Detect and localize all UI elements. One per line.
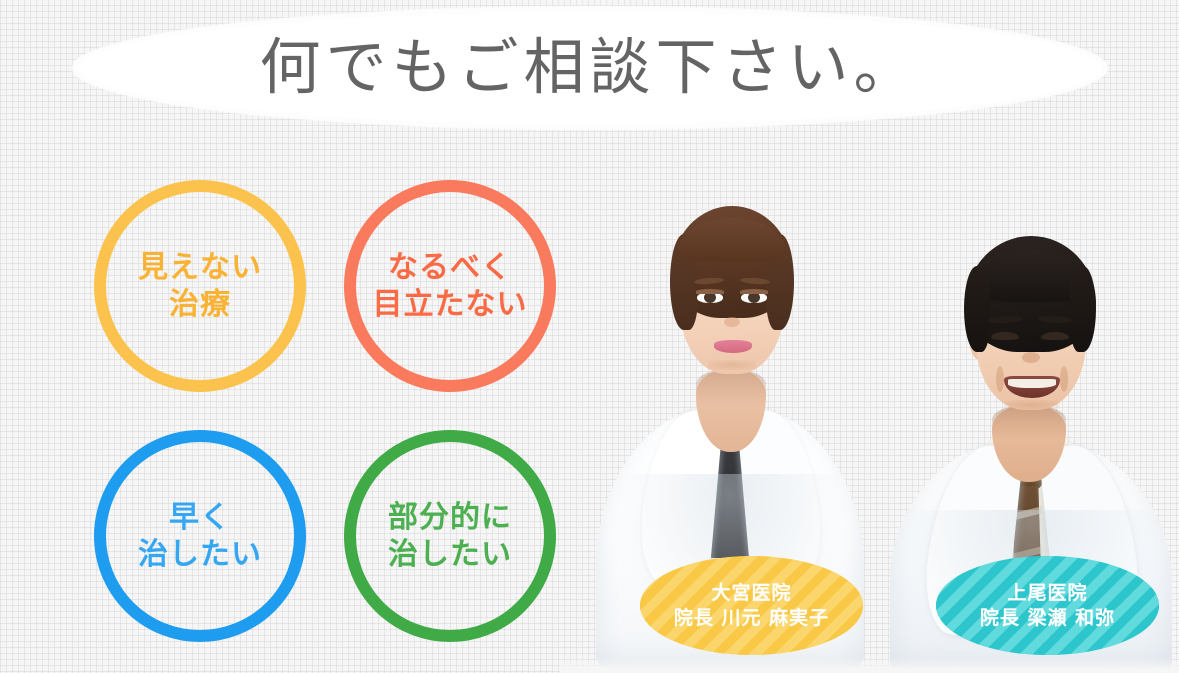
feature-circle-line-1: 部分的に [388,499,512,536]
teeth [1008,379,1056,388]
page-title: 何でもご相談下さい。 [0,34,1179,102]
doctors-photo: 大宮医院 院長 川元 麻実子 上尾医院 院長 梁瀬 和弥 [560,150,1179,673]
photo-bottom-fade [560,657,1179,673]
neck-shadow [696,370,766,406]
hair-side-left [964,266,990,352]
feature-circle-invisible-treatment[interactable]: 見えない 治療 [94,180,306,392]
feature-circle-line-2: 治療 [169,286,231,323]
badge-clinic-name: 大宮医院 [711,581,791,606]
badge-director-name: 院長 梁瀬 和弥 [980,606,1115,631]
eyelid-right [740,289,768,294]
name-badge-omiya[interactable]: 大宮医院 院長 川元 麻実子 [640,556,863,655]
badge-clinic-name: 上尾医院 [1007,581,1087,606]
feature-circle-line-2: 目立たない [373,286,528,323]
feature-circle-line-2: 治したい [138,536,262,573]
chin-shadow [708,360,756,370]
eyelid-left [696,289,724,294]
hair-side-right [1070,266,1096,352]
feature-circle-line-1: なるべく [388,249,512,286]
feature-circle-fast-treatment[interactable]: 早く 治したい [94,430,306,642]
eye-left [991,332,1019,340]
smile-line-left [996,366,1004,392]
feature-circle-partial-treatment[interactable]: 部分的に 治したい [344,430,556,642]
feature-circle-line-1: 早く [169,499,231,536]
feature-circle-line-1: 見えない [138,249,262,286]
eye-right [1041,332,1069,340]
nose [1022,352,1040,363]
badge-director-name: 院長 川元 麻実子 [674,606,829,631]
promo-banner: 何でもご相談下さい。 見えない 治療 なるべく 目立たない 早く 治したい 部分… [0,0,1179,673]
chin-shadow [1004,400,1060,410]
name-badge-ageo[interactable]: 上尾医院 院長 梁瀬 和弥 [936,556,1159,655]
neck-shadow [992,406,1066,440]
mouth [714,340,752,353]
feature-circle-inconspicuous[interactable]: なるべく 目立たない [344,180,556,392]
feature-circle-line-2: 治したい [388,536,512,573]
smile-line-right [1060,366,1068,392]
nose [724,317,740,327]
